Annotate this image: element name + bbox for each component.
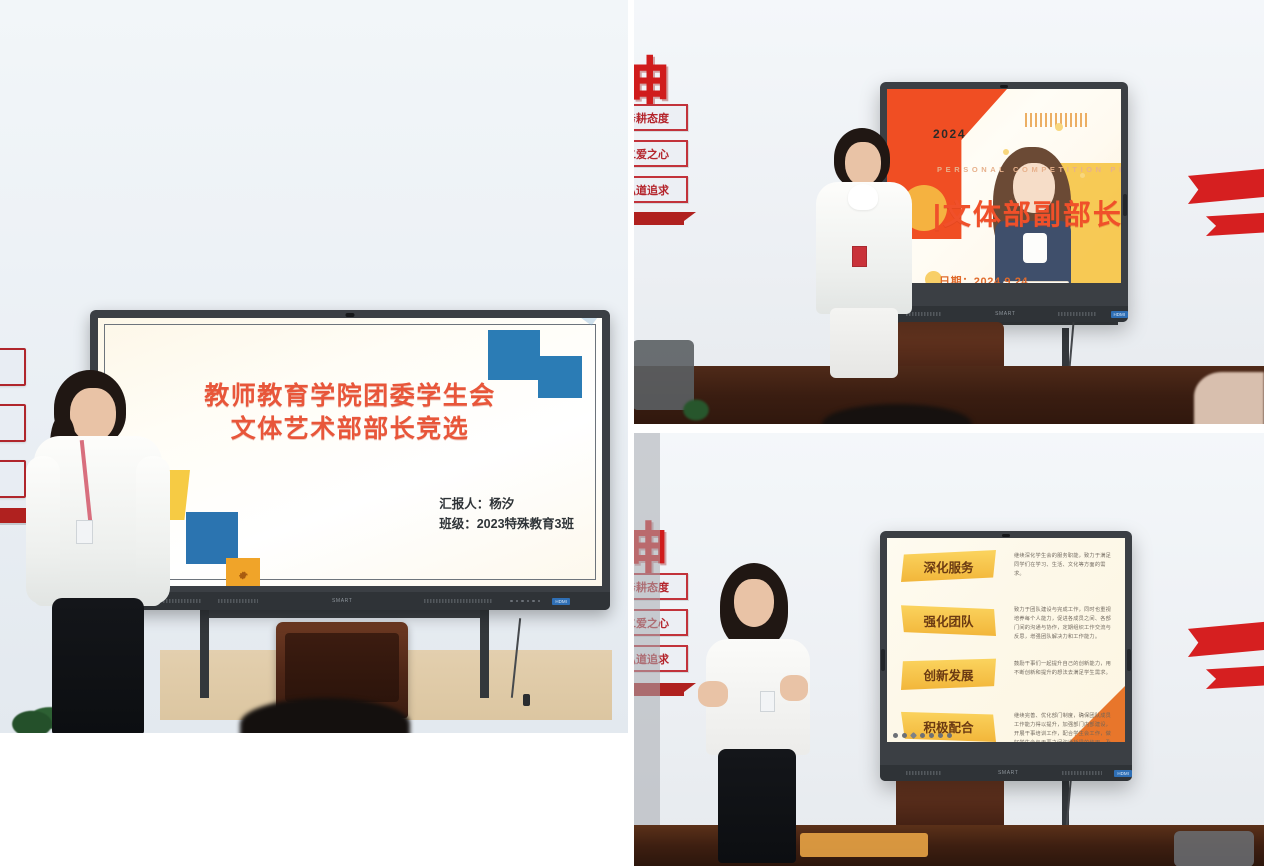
speaker-grille-right: [424, 599, 492, 603]
speaker-grille-right-rb: [1062, 771, 1102, 775]
presenter-right-sleeve: [136, 456, 170, 604]
potted-plant-rt: [674, 392, 718, 422]
content-body-text-2: 致力于团队建设与完成工作，同时也重视培养每个人能力，促进各成员之间、各部门间的沟…: [1014, 606, 1115, 642]
slide-sparkle-1: [1055, 123, 1063, 131]
bezel-port-label-rt: HDMI: [1111, 311, 1129, 318]
more-icon[interactable]: [947, 733, 952, 738]
presenter-right-top: [812, 128, 918, 378]
orange-banner-on-table: [800, 833, 928, 857]
bezel-port-label-rb: HDMI: [1114, 770, 1132, 777]
shapes-icon[interactable]: [929, 733, 934, 738]
smartboard-brand-logo: SMART: [332, 598, 352, 604]
smartboard-camera-icon-rt: [1000, 85, 1008, 89]
bezel-button-1[interactable]: [510, 600, 513, 603]
slide-date-line: 日期：2024.9.24: [939, 273, 1028, 283]
smartboard-display-rb[interactable]: 深化服务 继续深化学生会的服务职能，致力于满足同学们在学习、生活、文化等方面的需…: [880, 531, 1132, 781]
board-stand-right-leg: [480, 610, 489, 698]
presenter-face: [70, 388, 116, 442]
smartboard-brand-logo-rb: SMART: [998, 770, 1018, 776]
smartboard-side-button-right[interactable]: [1123, 194, 1127, 216]
slide-main-title: |文体部副部长竞选|: [933, 193, 1001, 233]
smartboard-side-button-right-rb[interactable]: [1127, 649, 1131, 671]
wall-plaque-1: [0, 348, 26, 386]
left-panel-bottom-whitespace: [0, 733, 632, 866]
bezel-button-4[interactable]: [527, 600, 530, 603]
pen-icon[interactable]: [910, 732, 917, 739]
presenter-rb-face: [734, 579, 774, 627]
presenter-rb-id-badge: [760, 691, 775, 712]
speaker-grille-right-rt: [1058, 312, 1097, 316]
slide-class-line: 班级：2023特殊教育3班: [439, 514, 574, 534]
wall-column-rb: [632, 433, 660, 866]
slide-meta-block: 汇报人：杨汐 班级：2023特殊教育3班: [439, 494, 574, 535]
content-body-text-4: 继续完善、优化部门制度，确保团队成员工作能力得以提升，加强部门内部建设，开展干事…: [1014, 712, 1115, 742]
wall-pill-2: 二爱之心: [632, 140, 688, 167]
smartboard-side-button-left-rb[interactable]: [881, 649, 885, 671]
presenter-rb-right-hand: [780, 675, 808, 701]
presenter-left: [26, 370, 176, 733]
bezel-button-2[interactable]: [516, 600, 519, 603]
slide-blue-square-bottom: [186, 512, 238, 564]
presenter-left-sleeve: [26, 456, 60, 604]
slide-blue-square-large: [488, 330, 540, 380]
presenter-rt-id-badge: [852, 246, 867, 267]
slide-toolbar[interactable]: [893, 733, 952, 738]
content-row-2: 强化团队 致力于团队建设与完成工作，同时也重视培养每个人能力，促进各成员之间、各…: [901, 604, 1115, 642]
wall-plaque-3: [0, 460, 26, 498]
camera-icon[interactable]: [938, 733, 943, 738]
smartboard-camera-icon: [346, 313, 355, 317]
content-body-text-1: 继续深化学生会的服务职能，致力于满足同学们在学习、生活、文化等方面的需求。: [1014, 552, 1115, 579]
presenter-rt-face: [845, 142, 881, 186]
bezel-button-5[interactable]: [532, 600, 535, 603]
presenter-trousers: [52, 598, 144, 733]
slide-rt: 2024 PERSONAL COMPETITION PRESENTATION |…: [887, 89, 1121, 283]
right-top-panel-photo: 神 务耕态度 二爱之心 弘道追求: [632, 0, 1264, 433]
presenter-rb-left-hand: [698, 681, 728, 707]
chair-foreground-rb: [1174, 831, 1254, 866]
smartboard-bottom-bezel-rb: SMART HDMI: [880, 765, 1132, 781]
left-photo: 教师教育学院团委学生会 文体艺术部部长竞选 汇报人：杨汐 班级：2023特殊教育…: [0, 0, 632, 733]
bezel-button-6[interactable]: [538, 600, 541, 603]
content-row-3: 创新发展 鼓励干事们一起提升自己的创新能力，用不断创新和提升的想法去满足学生需求…: [901, 658, 1115, 690]
illustration-shirt-front: [1023, 233, 1047, 263]
eraser-icon[interactable]: [920, 733, 925, 738]
smartboard-screen-rb[interactable]: 深化服务 继续深化学生会的服务职能，致力于满足同学们在学习、生活、文化等方面的需…: [887, 538, 1125, 742]
bezel-port-label: HDMI: [552, 598, 570, 605]
content-row-1: 深化服务 继续深化学生会的服务职能，致力于满足同学们在学习、生活、文化等方面的需…: [901, 550, 1115, 582]
settings-icon[interactable]: [902, 733, 907, 738]
photo-collage: 教师教育学院团委学生会 文体艺术部部长竞选 汇报人：杨汐 班级：2023特殊教育…: [0, 0, 1264, 866]
content-banner-label-1: 深化服务: [901, 550, 996, 582]
bezel-button-3[interactable]: [521, 600, 524, 603]
wall-pill-1: 务耕态度: [632, 104, 688, 131]
board-stand-left-leg: [200, 610, 209, 698]
presenter-rb-trousers: [718, 749, 796, 863]
presenter-right-bottom: [704, 563, 814, 863]
gear-icon: [237, 569, 250, 582]
speaker-grille-left-2: [218, 599, 258, 603]
content-body-text-3: 鼓励干事们一起提升自己的创新能力，用不断创新和提升的想法去满足学生需求。: [1014, 660, 1115, 678]
wall-red-bar-rt: [632, 212, 684, 225]
board-stand-bar: [200, 610, 489, 618]
slide-rb: 深化服务 继续深化学生会的服务职能，致力于满足同学们在学习、生活、文化等方面的需…: [887, 538, 1125, 742]
smartboard-camera-icon-rb: [1002, 534, 1010, 538]
right-bottom-panel-photo: 神 务耕态度 二爱之心 弘道追求 深化服务 继续: [632, 433, 1264, 866]
slide-presenter-line: 汇报人：杨汐: [439, 494, 574, 514]
slide-english-subtitle: PERSONAL COMPETITION PRESENTATION: [937, 165, 1121, 174]
presenter-rt-bow-tie: [848, 184, 878, 210]
slide-orange-square-decoration: [226, 558, 260, 586]
content-banner-label-3: 创新发展: [901, 658, 996, 690]
wall-plaque-2: [0, 404, 26, 442]
content-banner-label-2: 强化团队: [901, 604, 996, 636]
speaker-grille-left-rb: [906, 771, 942, 775]
presenter-rt-skirt: [830, 308, 898, 378]
wall-pill-3: 弘道追求: [632, 176, 688, 203]
undo-icon[interactable]: [893, 733, 898, 738]
bezel-button-row[interactable]: [510, 600, 540, 603]
slide-year-label: 2024: [933, 127, 966, 141]
panel-divider-horizontal: [632, 424, 1264, 433]
presenter-id-badge: [76, 520, 93, 544]
smartboard-screen-rt[interactable]: 2024 PERSONAL COMPETITION PRESENTATION |…: [887, 89, 1121, 283]
smartboard-brand-logo-rt: SMART: [995, 311, 1015, 317]
